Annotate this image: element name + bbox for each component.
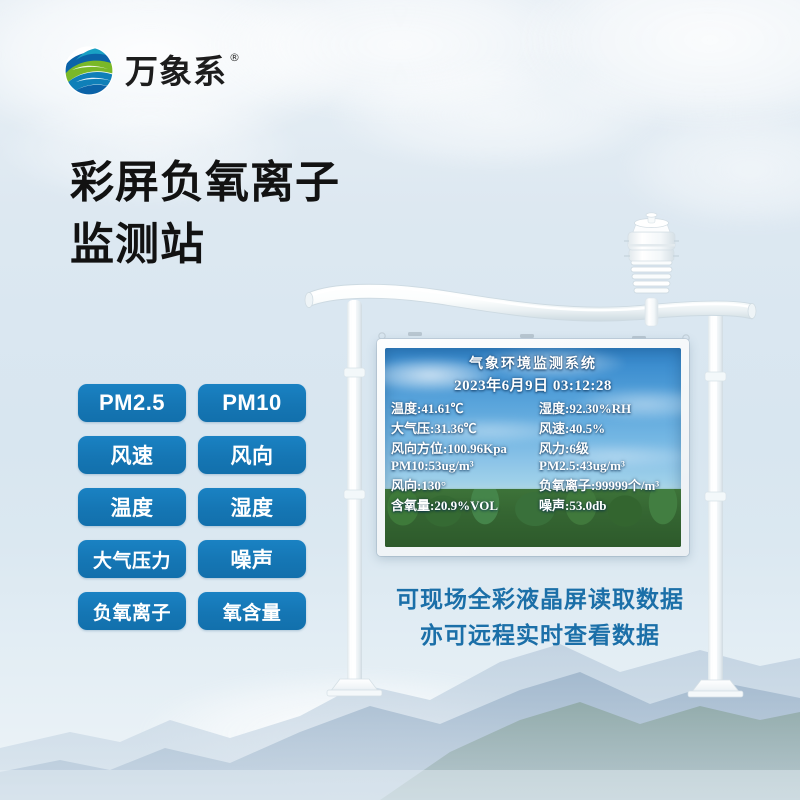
readout-row: PM10:53ug/m³ PM2.5:43ug/m³ — [391, 458, 675, 474]
readout-humidity: 湿度:92.30%RH — [533, 398, 675, 417]
globe-swirl-icon — [62, 44, 116, 98]
readout-noise: 噪声:53.0db — [533, 495, 675, 514]
readout-row: 含氧量:20.9%VOL 噪声:53.0db — [391, 495, 675, 514]
page-title: 彩屏负氧离子 监测站 — [70, 152, 340, 277]
brand-logo: 万象系 ® — [62, 44, 227, 98]
readout-wind-direction: 风向:130° — [391, 475, 533, 494]
feature-caption-line2: 亦可远程实时查看数据 — [388, 619, 692, 655]
feature-tag-list: PM2.5 PM10 风速 风向 温度 湿度 大气压力 噪声 负氧离子 氧含量 — [78, 384, 306, 630]
readout-pm10: PM10:53ug/m³ — [391, 458, 533, 474]
brand-name: 万象系 ® — [125, 55, 227, 88]
feature-caption: 可现场全彩液晶屏读取数据 亦可远程实时查看数据 — [388, 583, 692, 654]
readout-title: 气象环境监测系统 — [391, 353, 675, 373]
feature-tag-humidity[interactable]: 湿度 — [198, 488, 306, 526]
feature-tag-pm25[interactable]: PM2.5 — [78, 384, 186, 422]
readout-pressure: 大气压:31.36℃ — [391, 418, 533, 437]
right-support-post — [688, 305, 743, 697]
feature-tag-pressure[interactable]: 大气压力 — [78, 540, 186, 578]
readout-datetime: 2023年6月9日 03:12:28 — [391, 374, 675, 395]
registered-mark: ® — [229, 52, 241, 63]
feature-tag-noise[interactable]: 噪声 — [198, 540, 306, 578]
brand-name-text: 万象系 — [125, 52, 227, 91]
lcd-screen-content: 气象环境监测系统 2023年6月9日 03:12:28 温度:41.61℃ 湿度… — [385, 348, 681, 547]
lcd-display-panel[interactable]: 气象环境监测系统 2023年6月9日 03:12:28 温度:41.61℃ 湿度… — [377, 339, 689, 556]
feature-caption-line1: 可现场全彩液晶屏读取数据 — [388, 583, 692, 619]
readout-wind-force: 风力:6级 — [533, 438, 675, 457]
readout-row: 大气压:31.36℃ 风速:40.5% — [391, 418, 675, 437]
sensor-readout-overlay: 气象环境监测系统 2023年6月9日 03:12:28 温度:41.61℃ 湿度… — [385, 348, 681, 547]
readout-windspeed: 风速:40.5% — [533, 418, 675, 437]
readout-oxygen: 含氧量:20.9%VOL — [391, 495, 533, 514]
feature-tag-windspeed[interactable]: 风速 — [78, 436, 186, 474]
readout-temperature: 温度:41.61℃ — [391, 398, 533, 417]
feature-tag-anion[interactable]: 负氧离子 — [78, 592, 186, 630]
readout-row: 温度:41.61℃ 湿度:92.30%RH — [391, 398, 675, 417]
readout-anion: 负氧离子:99999个/m³ — [533, 475, 675, 494]
readout-pm25: PM2.5:43ug/m³ — [533, 458, 675, 474]
readout-wind-azimuth: 风向方位:100.96Kpa — [391, 438, 533, 457]
page-title-line2: 监测站 — [70, 214, 340, 276]
readout-rows: 温度:41.61℃ 湿度:92.30%RH 大气压:31.36℃ 风速:40.5… — [391, 398, 675, 514]
readout-row: 风向:130° 负氧离子:99999个/m³ — [391, 475, 675, 494]
page-title-line1: 彩屏负氧离子 — [70, 152, 340, 214]
feature-tag-temperature[interactable]: 温度 — [78, 488, 186, 526]
canopy-beam — [305, 284, 756, 321]
left-support-post — [327, 300, 382, 696]
readout-row: 风向方位:100.96Kpa 风力:6级 — [391, 438, 675, 457]
feature-tag-pm10[interactable]: PM10 — [198, 384, 306, 422]
feature-tag-winddir[interactable]: 风向 — [198, 436, 306, 474]
feature-tag-oxygen[interactable]: 氧含量 — [198, 592, 306, 630]
